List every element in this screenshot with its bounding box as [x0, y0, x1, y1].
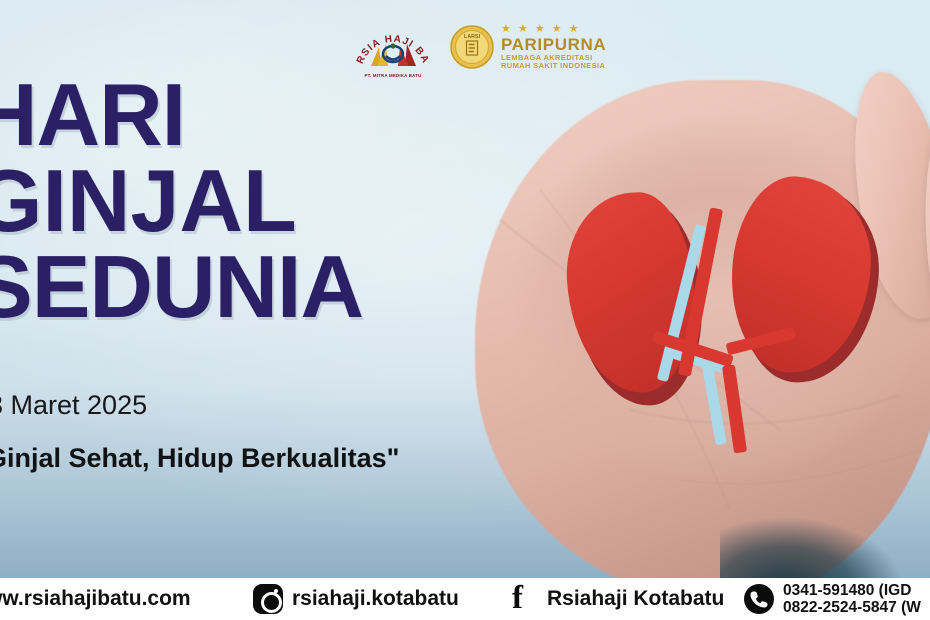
- hands-photo: [420, 0, 930, 582]
- paper-kidneys: [560, 175, 890, 435]
- footer-phone-line-2: 0822-2524-5847 (W: [783, 599, 921, 616]
- headline-line-1: HARI: [0, 72, 363, 158]
- svg-text:LARSI: LARSI: [464, 34, 481, 40]
- footer-phone-numbers: 0341-591480 (IGD 0822-2524-5847 (W: [783, 582, 921, 617]
- footer-facebook-handle: Rsiahaji Kotabatu: [547, 587, 724, 611]
- accreditation-line-2: RUMAH SAKIT INDONESIA: [501, 62, 606, 70]
- poster-canvas: HARI GINJAL SEDUNIA 3 Maret 2025 Ginjal …: [0, 0, 930, 620]
- event-date: 3 Maret 2025: [0, 390, 147, 421]
- phone-icon: [744, 584, 774, 614]
- accreditation-badge: LARSI ★ ★ ★ ★ ★ PARIPURNA LEMBAGA AKREDI…: [450, 24, 606, 69]
- accreditation-text: ★ ★ ★ ★ ★ PARIPURNA LEMBAGA AKREDITASI R…: [501, 24, 606, 69]
- stars-rating: ★ ★ ★ ★ ★: [501, 24, 606, 35]
- event-tagline: Ginjal Sehat, Hidup Berkualitas": [0, 443, 399, 474]
- footer-instagram-handle: rsiahaji.kotabatu: [292, 587, 459, 611]
- instagram-icon-dot: [274, 589, 278, 593]
- accreditation-title: PARIPURNA: [501, 36, 606, 54]
- contact-footer: ww.rsiahajibatu.com rsiahaji.kotabatu f …: [0, 578, 930, 620]
- poster-headline: HARI GINJAL SEDUNIA: [0, 72, 363, 331]
- footer-website[interactable]: ww.rsiahajibatu.com: [0, 587, 191, 611]
- footer-instagram[interactable]: rsiahaji.kotabatu: [253, 584, 459, 614]
- footer-phone[interactable]: 0341-591480 (IGD 0822-2524-5847 (W: [744, 582, 921, 617]
- facebook-icon: f: [512, 583, 538, 615]
- footer-facebook[interactable]: f Rsiahaji Kotabatu: [512, 583, 724, 615]
- headline-line-2: GINJAL: [0, 158, 363, 244]
- hospital-logo: RSIA HAJI BATU PT. MITRA MEDIKA BATU: [352, 16, 434, 78]
- instagram-icon: [253, 584, 283, 614]
- hospital-logo-mark: RSIA HAJI BATU: [352, 16, 434, 78]
- dark-corner-shadow: [720, 470, 930, 582]
- larsi-medal-icon: LARSI: [450, 25, 494, 69]
- footer-phone-line-1: 0341-591480 (IGD: [783, 582, 921, 599]
- logo-group: RSIA HAJI BATU PT. MITRA MEDIKA BATU: [352, 16, 606, 78]
- hospital-logo-subtitle: PT. MITRA MEDIKA BATU: [352, 73, 434, 78]
- headline-line-3: SEDUNIA: [0, 244, 363, 330]
